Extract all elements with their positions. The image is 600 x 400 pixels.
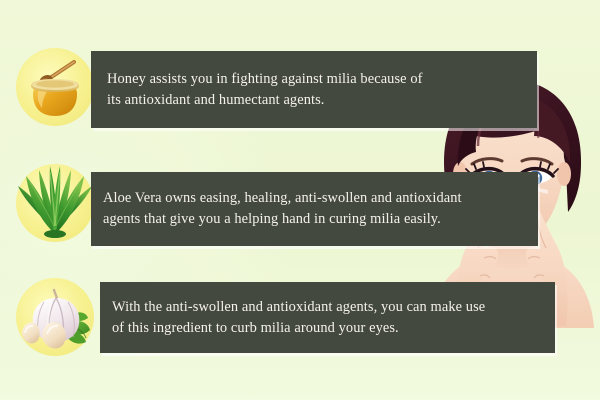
tip-text-line: its antioxidant and humectant agents. [107,90,527,111]
tip-text-line: Aloe Vera owns easing, healing, anti-swo… [103,188,528,209]
tip-text-line: With the anti-swollen and antioxidant ag… [112,297,545,318]
tip-text-line: of this ingredient to curb milia around … [112,318,545,339]
tip-panel-honey: Honey assists you in fighting against mi… [91,51,537,128]
tip-panel-aloe: Aloe Vera owns easing, healing, anti-swo… [91,172,538,246]
tip-text-line: agents that give you a helping hand in c… [103,209,528,230]
honey-jar-shape [31,79,79,116]
garlic-icon [16,278,94,356]
honey-pot-icon [16,48,94,126]
infographic-canvas: Honey assists you in fighting against mi… [0,0,600,400]
tip-text-line: Honey assists you in fighting against mi… [107,69,527,90]
tip-panel-garlic: With the anti-swollen and antioxidant ag… [100,282,555,353]
aloe-vera-icon [16,164,94,242]
aloe-plant-shape [18,166,92,238]
